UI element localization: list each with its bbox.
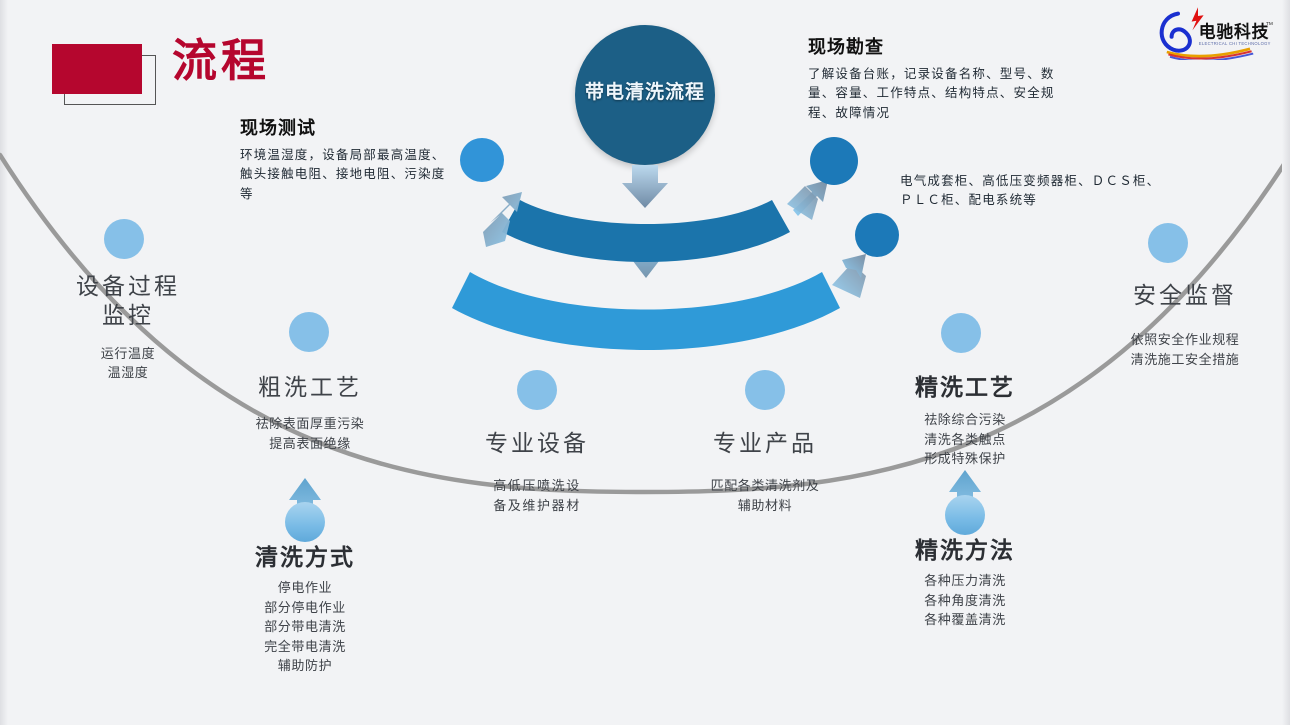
bulb-sub-2: 各种压力清洗 各种角度清洗 各种覆盖清洗 bbox=[875, 571, 1055, 630]
node-coarse-wash-process: 粗洗工艺 祛除表面厚重污染 提高表面绝缘 bbox=[215, 368, 405, 453]
node-professional-product: 专业产品 匹配各类清洗剂及 辅助材料 bbox=[675, 424, 855, 515]
node-fine-wash-method: 精洗方法 各种压力清洗 各种角度清洗 各种覆盖清洗 bbox=[875, 531, 1055, 630]
bulb-sub-1: 停电作业 部分停电作业 部分带电清洗 完全带电清洗 辅助防护 bbox=[215, 578, 395, 676]
node-device-process-monitor: 设备过程 监控 运行温度 温湿度 bbox=[38, 272, 218, 383]
dot-node-4 bbox=[745, 370, 785, 410]
node-title-2: 粗洗工艺 bbox=[215, 368, 405, 402]
callout-left-body: 环境温湿度，设备局部最高温度、触头接触电阻、接地电阻、污染度等 bbox=[240, 146, 455, 204]
node-sub-4: 匹配各类清洗剂及 辅助材料 bbox=[675, 476, 855, 515]
callout-right-survey: 现场勘查 了解设备台账，记录设备名称、型号、数量、容量、工作特点、结构特点、安全… bbox=[808, 33, 1080, 123]
dot-bulb-cleaning-method bbox=[285, 502, 325, 542]
callout-left-heading: 现场测试 bbox=[240, 114, 455, 140]
dot-node-6 bbox=[1148, 223, 1188, 263]
node-sub-6: 依照安全作业规程 清洗施工安全措施 bbox=[1090, 330, 1280, 369]
node-cleaning-method: 清洗方式 停电作业 部分停电作业 部分带电清洗 完全带电清洗 辅助防护 bbox=[215, 538, 395, 676]
node-sub-2: 祛除表面厚重污染 提高表面绝缘 bbox=[215, 414, 405, 453]
callout-right-body: 了解设备台账，记录设备名称、型号、数量、容量、工作特点、结构特点、安全规程、故障… bbox=[808, 65, 1080, 123]
callout-right-heading: 现场勘查 bbox=[808, 33, 1080, 59]
dot-node-2 bbox=[289, 312, 329, 352]
node-title-5: 精洗工艺 bbox=[875, 368, 1055, 402]
dot-right-survey bbox=[810, 137, 858, 185]
callout-right-equipment-body: 电气成套柜、高低压变频器柜、ＤＣＳ柜、ＰＬＣ柜、配电系统等 bbox=[900, 172, 1162, 211]
bulb-title-2: 精洗方法 bbox=[875, 531, 1055, 565]
dot-node-3 bbox=[517, 370, 557, 410]
bulb-title-1: 清洗方式 bbox=[215, 538, 395, 572]
slide-canvas: 流程 电驰科技 ELECTRICAL CHI TECHNOLOGY TM 带电清… bbox=[0, 0, 1290, 725]
dot-left-test bbox=[460, 138, 504, 182]
node-safety-supervision: 安全监督 依照安全作业规程 清洗施工安全措施 bbox=[1090, 276, 1280, 369]
node-sub-3: 高低压喷洗设 备及维护器材 bbox=[447, 476, 627, 515]
dot-node-5 bbox=[941, 313, 981, 353]
node-sub-1: 运行温度 温湿度 bbox=[38, 344, 218, 383]
callout-right-equipment-list: 电气成套柜、高低压变频器柜、ＤＣＳ柜、ＰＬＣ柜、配电系统等 bbox=[900, 172, 1162, 211]
dot-node-1 bbox=[104, 219, 144, 259]
node-fine-wash-process: 精洗工艺 祛除综合污染 清洗各类触点 形成特殊保护 bbox=[875, 368, 1055, 469]
node-title-4: 专业产品 bbox=[675, 424, 855, 458]
node-professional-equipment: 专业设备 高低压喷洗设 备及维护器材 bbox=[447, 424, 627, 515]
node-sub-5: 祛除综合污染 清洗各类触点 形成特殊保护 bbox=[875, 410, 1055, 469]
node-title-1: 设备过程 监控 bbox=[38, 272, 218, 330]
node-title-6: 安全监督 bbox=[1090, 276, 1280, 310]
dot-right-equipment bbox=[855, 213, 899, 257]
dot-bulb-fine-wash-method bbox=[945, 495, 985, 535]
node-title-3: 专业设备 bbox=[447, 424, 627, 458]
callout-left-test: 现场测试 环境温湿度，设备局部最高温度、触头接触电阻、接地电阻、污染度等 bbox=[240, 114, 455, 204]
